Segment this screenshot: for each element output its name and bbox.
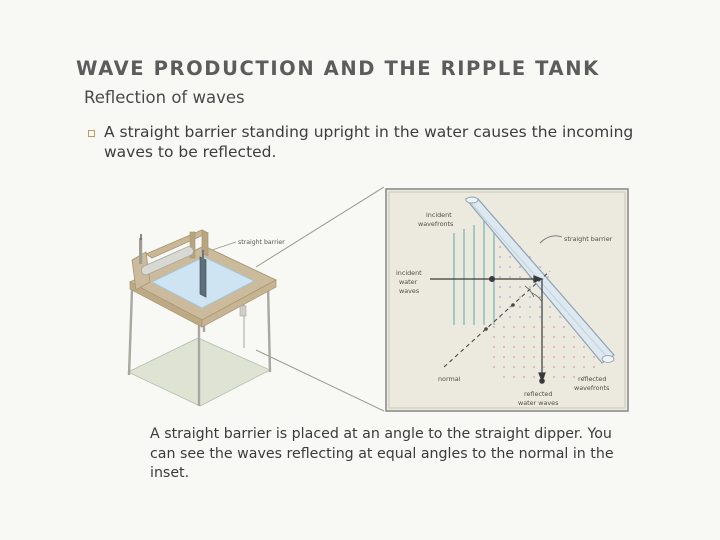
bullet-square-icon [88, 130, 95, 137]
figure-caption: A straight barrier is placed at an angle… [150, 425, 620, 484]
slide-subtitle: Reflection of waves [84, 88, 245, 107]
label-inset-straight-barrier: straight barrier [564, 235, 613, 243]
label-reflected-wavefronts-line1: reflected [578, 375, 606, 383]
label-incident-water-waves-line1: incident [396, 269, 422, 277]
tank-straight-barrier-label: straight barrier [238, 239, 285, 246]
label-reflected-water-waves-line1: reflected [524, 390, 552, 398]
figure-group: straight barrier [0, 175, 720, 425]
label-incident-wavefronts-line2: wavefronts [418, 220, 454, 228]
label-incident-water-waves-line3: waves [399, 287, 420, 295]
label-reflected-water-waves-line2: water waves [518, 399, 559, 407]
bullet-item: A straight barrier standing upright in t… [88, 122, 668, 163]
label-incident-water-waves-line2: water [399, 278, 418, 286]
tank-label-leader [212, 242, 236, 250]
ripple-tank-illustration: straight barrier [120, 220, 310, 410]
reflection-inset-diagram: incident wavefronts straight barrier inc… [382, 185, 632, 415]
slide-canvas: WAVE PRODUCTION AND THE RIPPLE TANK Refl… [0, 0, 720, 540]
leg-clamp [240, 306, 246, 316]
page-title: WAVE PRODUCTION AND THE RIPPLE TANK [76, 57, 600, 80]
bullet-item-text: A straight barrier standing upright in t… [104, 122, 668, 163]
label-normal: normal [438, 375, 461, 383]
label-incident-wavefronts-line1: incident [426, 211, 452, 219]
label-reflected-wavefronts-line2: wavefronts [574, 384, 610, 392]
